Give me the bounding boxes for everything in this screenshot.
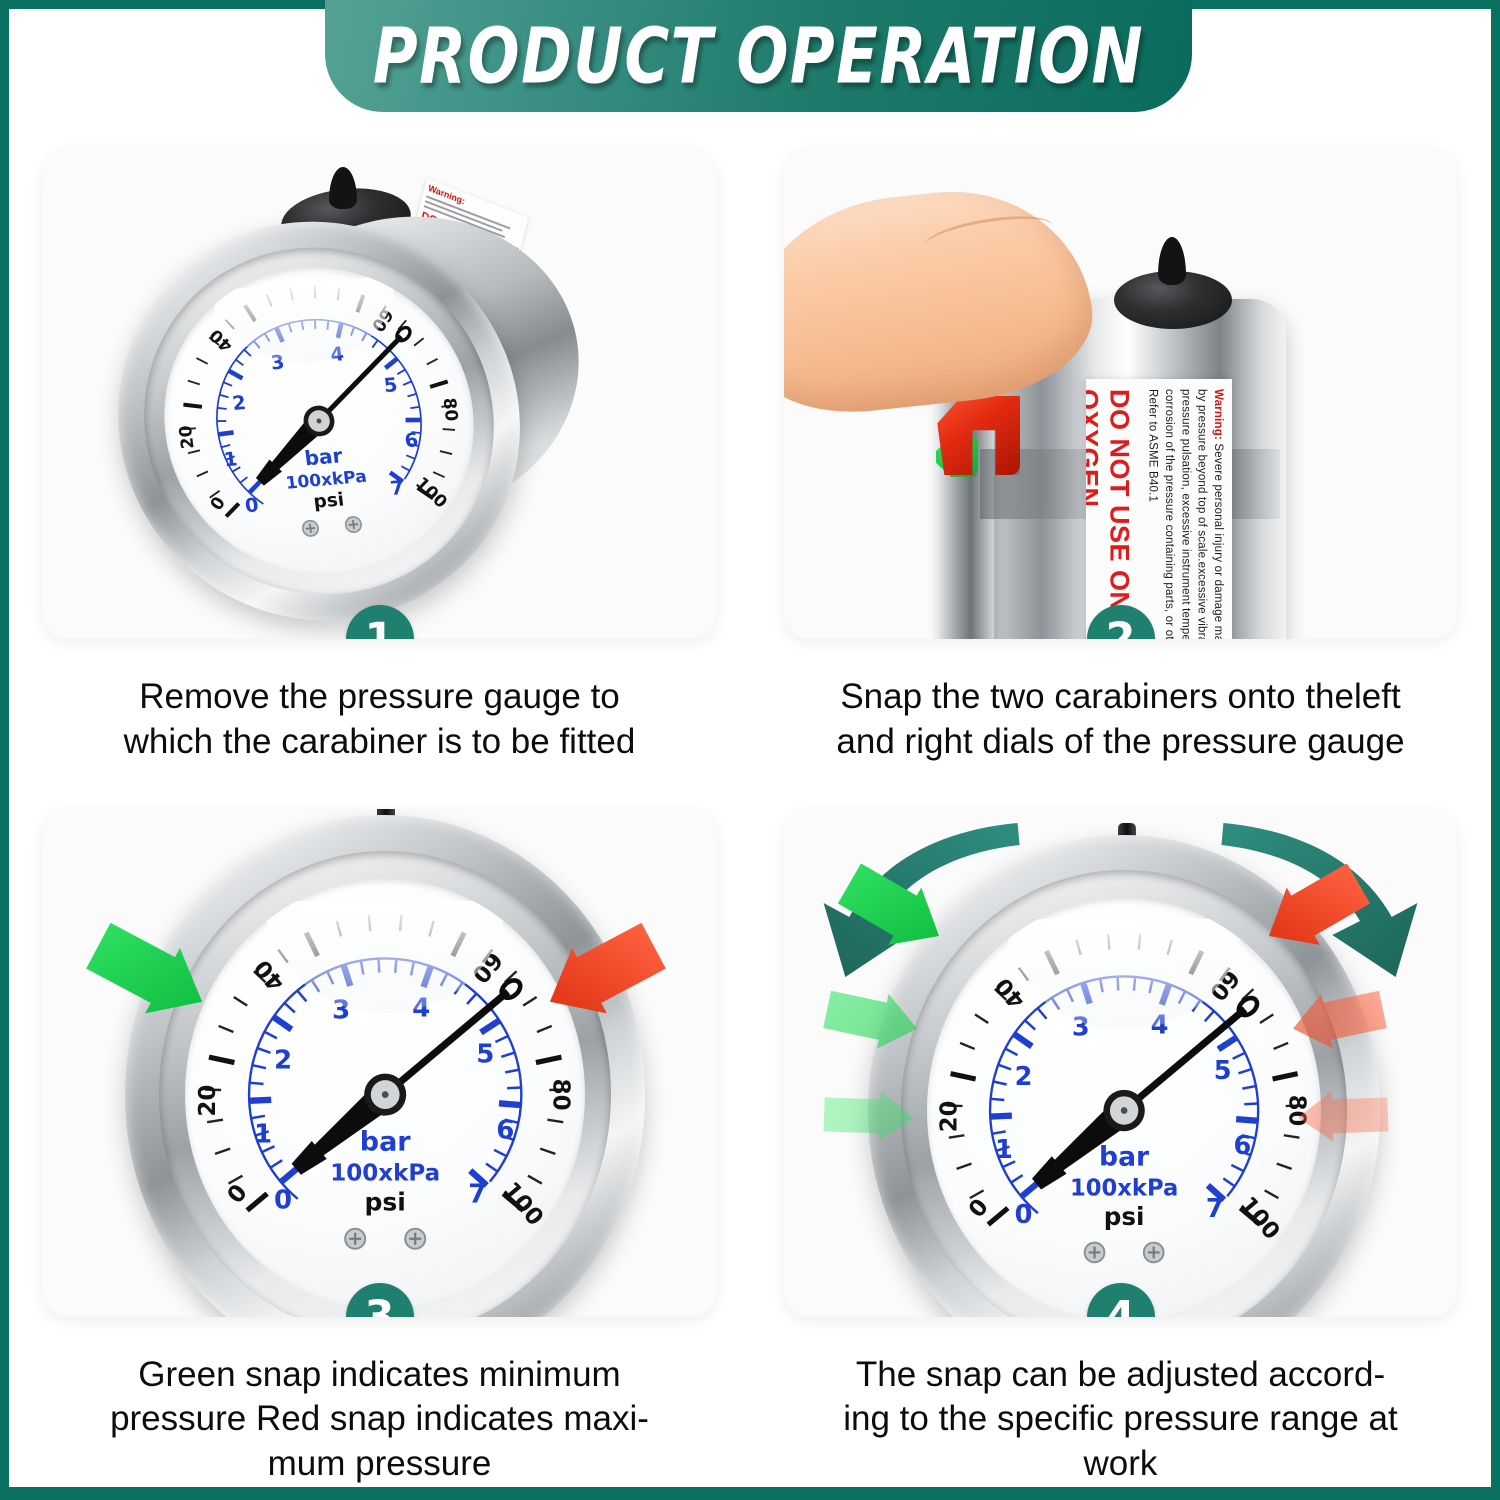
- svg-text:100xkPa: 100xkPa: [330, 1161, 440, 1187]
- svg-text:6: 6: [403, 428, 419, 452]
- caption-line: Green snap indicates minimum: [110, 1353, 649, 1398]
- svg-text:1: 1: [223, 447, 239, 471]
- svg-text:2: 2: [1015, 1062, 1033, 1092]
- warning-oxygen: DO NOT USE ON OXYGEN: [1086, 389, 1134, 639]
- svg-text:40: 40: [249, 954, 290, 995]
- caption-line: and right dials of the pressure gauge: [836, 720, 1404, 765]
- step-4-image: 0 20 40 60 80 100 01 23: [784, 809, 1457, 1317]
- svg-text:6: 6: [1233, 1131, 1251, 1161]
- svg-text:20: 20: [175, 425, 198, 450]
- gauge-tilted: Warning: DO NOT USE ON OXYGEN: [101, 169, 601, 619]
- step-2-image: Warning: Severe personal injury or damag…: [784, 149, 1457, 639]
- svg-text:60: 60: [368, 305, 398, 336]
- infographic-page: PRODUCT OPERATION Warning: DO NOT USE ON…: [0, 0, 1500, 1500]
- svg-text:100: 100: [1234, 1192, 1284, 1245]
- svg-text:100: 100: [412, 473, 452, 512]
- svg-text:0: 0: [206, 493, 229, 514]
- step-3: 0 20 40 60 80 100 01 23: [9, 787, 750, 1487]
- svg-text:60: 60: [466, 946, 507, 987]
- svg-text:3: 3: [332, 996, 350, 1026]
- svg-text:80: 80: [547, 1079, 573, 1111]
- svg-text:bar: bar: [360, 1127, 412, 1158]
- caption-line: Remove the pressure gauge to: [124, 675, 636, 720]
- step-2-caption: Snap the two carabiners onto theleft and…: [836, 675, 1404, 765]
- svg-text:3: 3: [270, 350, 286, 374]
- step-4-caption: The snap can be adjusted accord- ing to …: [843, 1353, 1397, 1487]
- svg-text:2: 2: [231, 391, 247, 415]
- step-4: 0 20 40 60 80 100 01 23: [750, 787, 1491, 1487]
- svg-text:2: 2: [274, 1046, 292, 1076]
- gauge-face: 0 20 40 60 80 100 01 23: [927, 898, 1321, 1317]
- gauge-closeup: 0 20 40 60 80 100 01 23: [105, 809, 665, 1317]
- step-3-caption: Green snap indicates minimum pressure Re…: [110, 1353, 649, 1487]
- svg-text:20: 20: [936, 1101, 962, 1133]
- caption-line: Snap the two carabiners onto theleft: [836, 675, 1404, 720]
- svg-text:5: 5: [1214, 1056, 1232, 1086]
- step-2: Warning: Severe personal injury or damag…: [750, 127, 1491, 787]
- svg-text:7: 7: [1206, 1194, 1224, 1224]
- svg-text:3: 3: [1072, 1013, 1090, 1043]
- svg-text:0: 0: [244, 493, 260, 517]
- svg-text:0: 0: [274, 1186, 292, 1216]
- step-3-image: 0 20 40 60 80 100 01 23: [43, 809, 716, 1317]
- warning-sticker-large: Warning: Severe personal injury or damag…: [1086, 379, 1232, 639]
- caption-line: mum pressure: [110, 1442, 649, 1487]
- svg-text:1: 1: [995, 1135, 1013, 1165]
- warning-body: Warning: Severe personal injury or damag…: [1144, 389, 1226, 639]
- svg-text:20: 20: [195, 1085, 221, 1117]
- svg-text:4: 4: [1151, 1011, 1169, 1041]
- svg-text:0: 0: [964, 1194, 994, 1223]
- svg-text:40: 40: [990, 972, 1030, 1013]
- gauge-dial-svg: 0 20 40 60 80 100 01 23: [185, 879, 585, 1310]
- svg-text:5: 5: [383, 373, 399, 397]
- caption-line: pressure Red snap indicates maxi-: [110, 1397, 649, 1442]
- svg-text:psi: psi: [312, 489, 345, 513]
- svg-text:0: 0: [222, 1180, 252, 1209]
- caption-line: which the carabiner is to be fitted: [124, 720, 636, 765]
- svg-text:7: 7: [389, 476, 405, 500]
- svg-text:4: 4: [329, 342, 345, 366]
- svg-text:bar: bar: [303, 443, 344, 470]
- caption-line: work: [843, 1442, 1397, 1487]
- svg-text:100xkPa: 100xkPa: [285, 466, 368, 493]
- vent-nipple-icon: [1158, 237, 1186, 285]
- caption-line: The snap can be adjusted accord-: [843, 1353, 1397, 1398]
- vent-nipple-icon: [329, 167, 357, 209]
- svg-text:6: 6: [496, 1116, 514, 1146]
- step-1-caption: Remove the pressure gauge to which the c…: [124, 675, 636, 765]
- svg-text:60: 60: [1204, 965, 1244, 1006]
- svg-text:80: 80: [439, 397, 462, 422]
- step-1-image: Warning: DO NOT USE ON OXYGEN: [43, 149, 716, 639]
- svg-text:4: 4: [412, 994, 430, 1024]
- gauge-face: 0 20 40 60 80 100 01 23: [185, 879, 585, 1310]
- svg-text:100xkPa: 100xkPa: [1070, 1175, 1178, 1201]
- gauge-dial-svg: 0 20 40 60 80 100 01 23: [927, 898, 1321, 1317]
- svg-text:1: 1: [254, 1120, 272, 1150]
- svg-text:0: 0: [1015, 1200, 1033, 1230]
- steps-grid: Warning: DO NOT USE ON OXYGEN: [9, 127, 1491, 1487]
- svg-text:5: 5: [476, 1040, 494, 1070]
- svg-text:100: 100: [497, 1177, 548, 1231]
- svg-text:40: 40: [205, 325, 236, 356]
- warning-heading: Warning:: [1212, 389, 1224, 440]
- svg-text:7: 7: [468, 1180, 486, 1210]
- header-banner: PRODUCT OPERATION: [325, 0, 1192, 112]
- page-title: PRODUCT OPERATION: [373, 11, 1144, 100]
- svg-text:psi: psi: [1104, 1202, 1145, 1231]
- gauge-bezel: 0 20 40 60 80 100 01 23: [125, 815, 645, 1317]
- step-1: Warning: DO NOT USE ON OXYGEN: [9, 127, 750, 787]
- svg-text:bar: bar: [1099, 1142, 1150, 1173]
- caption-line: ing to the specific pressure range at: [843, 1397, 1397, 1442]
- svg-text:psi: psi: [364, 1188, 405, 1217]
